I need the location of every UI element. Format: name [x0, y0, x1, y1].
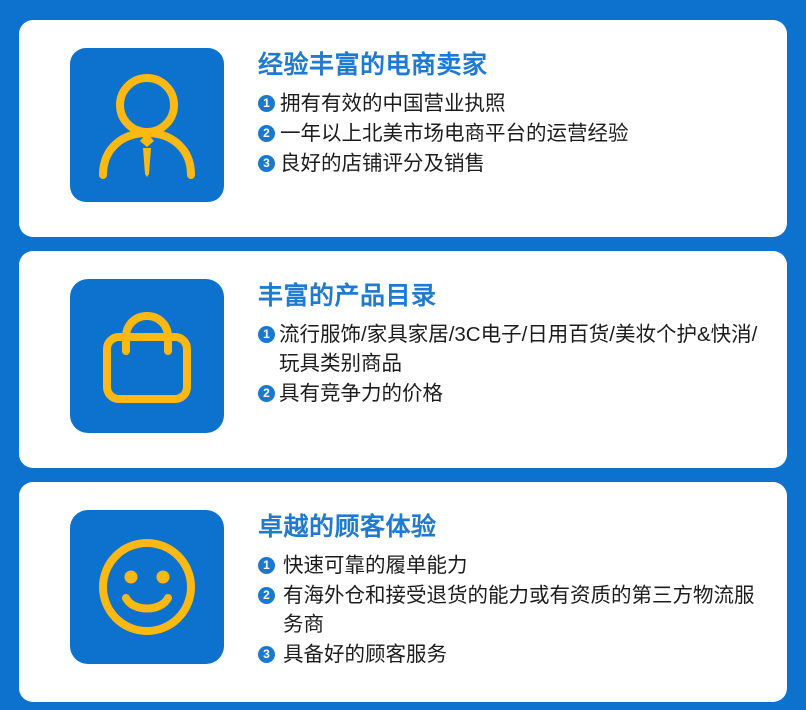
list-item: 3 具备好的顾客服务: [258, 640, 763, 669]
person-tie-icon-tile: [70, 48, 224, 202]
bullet-list: 1 快速可靠的履单能力 2 有海外仓和接受退货的能力或有资质的第三方物流服务商 …: [258, 551, 763, 669]
feature-card-customer-experience: 卓越的顾客体验 1 快速可靠的履单能力 2 有海外仓和接受退货的能力或有资质的第…: [19, 482, 787, 702]
bullet-text: 一年以上北美市场电商平台的运营经验: [280, 119, 763, 148]
smiley-face-icon-tile: [70, 510, 224, 664]
page-title: 经验丰富的电商卖家: [258, 52, 763, 80]
card-text-column: 经验丰富的电商卖家 1 拥有有效的中国营业执照 2 一年以上北美市场电商平台的运…: [224, 48, 763, 179]
bullet-number-icon: 3: [258, 155, 275, 172]
bullet-text: 流行服饰/家具家居/3C电子/日用百货/美妆个护&快消/玩具类别商品: [279, 320, 763, 378]
person-tie-icon: [95, 71, 199, 179]
card-text-column: 丰富的产品目录 1 流行服饰/家具家居/3C电子/日用百货/美妆个护&快消/玩具…: [224, 279, 763, 409]
list-item: 2 有海外仓和接受退货的能力或有资质的第三方物流服务商: [258, 581, 763, 639]
list-item: 2 具有竞争力的价格: [258, 379, 763, 408]
list-item: 1 流行服饰/家具家居/3C电子/日用百货/美妆个护&快消/玩具类别商品: [258, 320, 763, 378]
bullet-text: 具有竞争力的价格: [279, 379, 763, 408]
page-title: 卓越的顾客体验: [258, 514, 763, 542]
list-item: 2 一年以上北美市场电商平台的运营经验: [258, 119, 763, 148]
bullet-number-icon: 1: [258, 326, 275, 343]
bullet-number-icon: 1: [258, 557, 275, 574]
bullet-text: 具备好的顾客服务: [283, 640, 763, 669]
bullet-text: 有海外仓和接受退货的能力或有资质的第三方物流服务商: [283, 581, 763, 639]
bullet-number-icon: 2: [258, 385, 275, 402]
bullet-number-icon: 3: [258, 646, 275, 663]
bullet-number-icon: 2: [258, 125, 275, 142]
list-item: 3 良好的店铺评分及销售: [258, 149, 763, 178]
shopping-bag-icon-tile: [70, 279, 224, 433]
bullet-text: 良好的店铺评分及销售: [280, 149, 763, 178]
bullet-text: 拥有有效的中国营业执照: [280, 89, 763, 118]
bullet-number-icon: 1: [258, 95, 275, 112]
bullet-text: 快速可靠的履单能力: [283, 551, 763, 580]
card-text-column: 卓越的顾客体验 1 快速可靠的履单能力 2 有海外仓和接受退货的能力或有资质的第…: [224, 510, 763, 670]
bullet-list: 1 拥有有效的中国营业执照 2 一年以上北美市场电商平台的运营经验 3 良好的店…: [258, 89, 763, 178]
smiley-face-icon: [95, 535, 199, 639]
infographic-page: 经验丰富的电商卖家 1 拥有有效的中国营业执照 2 一年以上北美市场电商平台的运…: [0, 0, 806, 710]
feature-card-experienced-seller: 经验丰富的电商卖家 1 拥有有效的中国营业执照 2 一年以上北美市场电商平台的运…: [19, 20, 787, 237]
bullet-list: 1 流行服饰/家具家居/3C电子/日用百货/美妆个护&快消/玩具类别商品 2 具…: [258, 320, 763, 408]
page-title: 丰富的产品目录: [258, 283, 763, 311]
feature-card-product-catalog: 丰富的产品目录 1 流行服饰/家具家居/3C电子/日用百货/美妆个护&快消/玩具…: [19, 251, 787, 468]
bullet-number-icon: 2: [258, 587, 275, 604]
list-item: 1 快速可靠的履单能力: [258, 551, 763, 580]
shopping-bag-icon: [95, 304, 199, 408]
list-item: 1 拥有有效的中国营业执照: [258, 89, 763, 118]
